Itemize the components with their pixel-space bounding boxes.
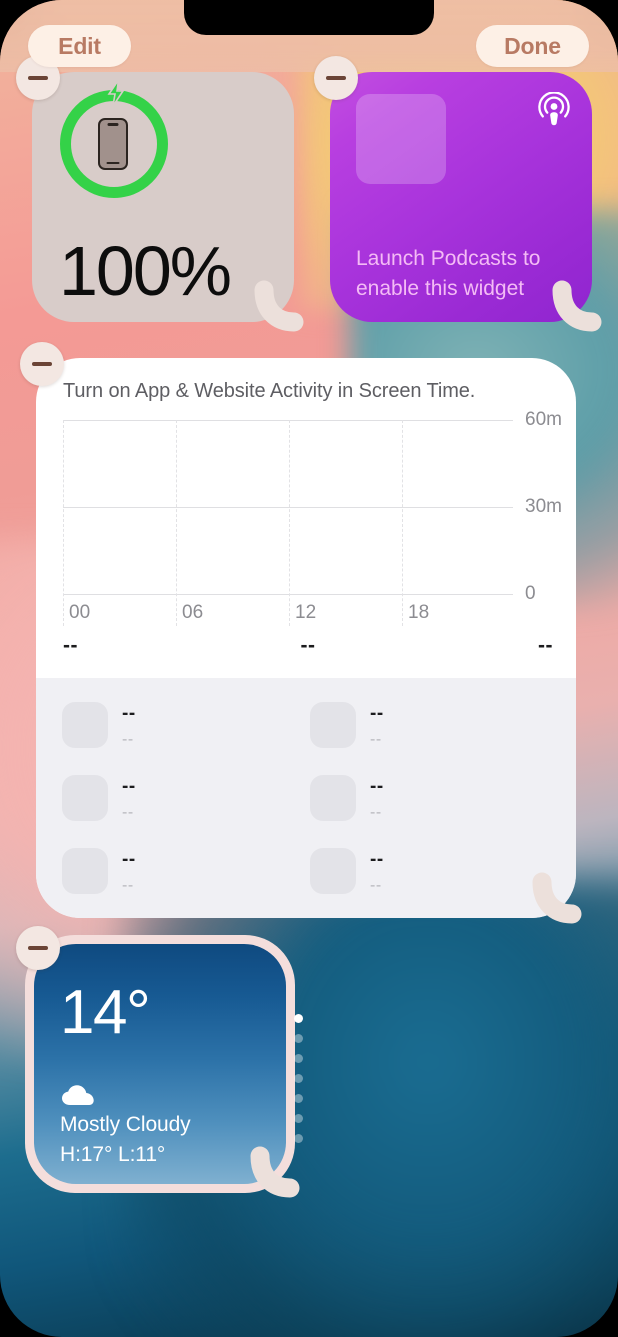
widget-screen-time[interactable]: Turn on App & Website Activity in Screen… bbox=[36, 358, 576, 918]
device-frame: 100% bbox=[0, 0, 618, 1337]
page-dot-1[interactable] bbox=[294, 1014, 303, 1023]
app-icon-placeholder bbox=[62, 775, 108, 821]
widget-batteries[interactable]: 100% bbox=[32, 72, 294, 322]
app-icon-placeholder bbox=[62, 848, 108, 894]
list-item-detail: -- bbox=[122, 804, 136, 822]
page-indicator[interactable] bbox=[294, 1014, 303, 1143]
screen-time-chart: 60m 30m 0 00 06 12 18 bbox=[63, 420, 513, 598]
minus-icon bbox=[28, 946, 48, 950]
list-item-name: -- bbox=[122, 703, 136, 725]
page-dot-7[interactable] bbox=[294, 1134, 303, 1143]
page-dot-4[interactable] bbox=[294, 1074, 303, 1083]
minus-icon bbox=[28, 76, 48, 80]
page-dot-5[interactable] bbox=[294, 1094, 303, 1103]
list-item-name: -- bbox=[122, 776, 136, 798]
weather-condition-label: Mostly Cloudy bbox=[60, 1113, 191, 1137]
gridline-30m bbox=[63, 507, 513, 508]
resize-handle-weather[interactable] bbox=[248, 1146, 300, 1198]
list-item-text: -- -- bbox=[370, 848, 384, 895]
ytick-label-30m: 30m bbox=[525, 496, 562, 518]
podcast-artwork-placeholder bbox=[356, 94, 446, 184]
weather-high-low-label: H:17° L:11° bbox=[60, 1143, 165, 1167]
xtick-label-06: 06 bbox=[176, 602, 203, 624]
app-icon-placeholder bbox=[310, 775, 356, 821]
widget-podcasts[interactable]: Launch Podcasts to enable this widget bbox=[330, 72, 592, 322]
remove-widget-button-weather[interactable] bbox=[16, 926, 60, 970]
minus-icon bbox=[326, 76, 346, 80]
podcasts-message-label: Launch Podcasts to enable this widget bbox=[356, 244, 570, 304]
chart-plot-area bbox=[63, 420, 513, 595]
list-item-detail: -- bbox=[370, 877, 384, 895]
gridline-x-00 bbox=[63, 420, 65, 626]
list-item[interactable]: -- -- bbox=[62, 775, 310, 822]
minus-icon bbox=[32, 362, 52, 366]
edit-button[interactable]: Edit bbox=[28, 25, 131, 67]
list-item-detail: -- bbox=[122, 731, 136, 749]
lightning-bolt-icon bbox=[105, 80, 127, 106]
list-item[interactable]: -- -- bbox=[310, 848, 558, 895]
list-item-text: -- -- bbox=[122, 775, 136, 822]
list-item-name: -- bbox=[122, 849, 136, 871]
list-item[interactable]: -- -- bbox=[310, 775, 558, 822]
widget-weather[interactable]: 14° Mostly Cloudy H:17° L:11° bbox=[34, 944, 286, 1184]
list-item[interactable]: -- -- bbox=[62, 848, 310, 895]
list-item-detail: -- bbox=[370, 804, 384, 822]
summary-value: -- bbox=[301, 634, 316, 658]
app-icon-placeholder bbox=[310, 702, 356, 748]
iphone-icon bbox=[98, 118, 128, 170]
list-item-text: -- -- bbox=[122, 848, 136, 895]
battery-ring-group bbox=[60, 90, 168, 198]
gridline-x-18 bbox=[402, 420, 404, 626]
remove-widget-button-screen-time[interactable] bbox=[20, 342, 64, 386]
list-item-detail: -- bbox=[122, 877, 136, 895]
resize-handle-podcasts[interactable] bbox=[550, 280, 602, 332]
gridline-0 bbox=[63, 594, 513, 595]
widget-canvas: 100% bbox=[0, 0, 618, 1337]
gridline-x-06 bbox=[176, 420, 178, 626]
list-item-text: -- -- bbox=[122, 702, 136, 749]
resize-handle-batteries[interactable] bbox=[252, 280, 304, 332]
list-item[interactable]: -- -- bbox=[62, 702, 310, 749]
resize-handle-screen-time[interactable] bbox=[530, 872, 582, 924]
list-item-detail: -- bbox=[370, 731, 384, 749]
page-dot-2[interactable] bbox=[294, 1034, 303, 1043]
summary-value: -- bbox=[63, 634, 78, 658]
done-button[interactable]: Done bbox=[476, 25, 589, 67]
ytick-label-0: 0 bbox=[525, 583, 536, 605]
screen-time-summary-row: -- -- -- bbox=[63, 634, 553, 658]
list-item[interactable]: -- -- bbox=[310, 702, 558, 749]
page-dot-3[interactable] bbox=[294, 1054, 303, 1063]
xtick-label-00: 00 bbox=[63, 602, 90, 624]
cloud-icon bbox=[61, 1084, 95, 1106]
xtick-label-12: 12 bbox=[289, 602, 316, 624]
gridline-x-12 bbox=[289, 420, 291, 626]
screen-time-app-list: -- -- -- -- bbox=[36, 678, 576, 918]
list-item-name: -- bbox=[370, 703, 384, 725]
screen-time-title: Turn on App & Website Activity in Screen… bbox=[63, 380, 475, 403]
app-icon-placeholder bbox=[310, 848, 356, 894]
list-item-name: -- bbox=[370, 849, 384, 871]
ytick-label-60m: 60m bbox=[525, 409, 562, 431]
remove-widget-button-podcasts[interactable] bbox=[314, 56, 358, 100]
list-item-text: -- -- bbox=[370, 702, 384, 749]
app-icon-placeholder bbox=[62, 702, 108, 748]
xtick-label-18: 18 bbox=[402, 602, 429, 624]
gridline-60m bbox=[63, 420, 513, 421]
weather-temperature-label: 14° bbox=[60, 982, 149, 1044]
summary-value: -- bbox=[538, 634, 553, 658]
list-item-text: -- -- bbox=[370, 775, 384, 822]
device-notch bbox=[184, 0, 434, 35]
list-item-name: -- bbox=[370, 776, 384, 798]
page-dot-6[interactable] bbox=[294, 1114, 303, 1123]
widget-screen-time-surface: Turn on App & Website Activity in Screen… bbox=[36, 358, 576, 918]
battery-percent-label: 100% bbox=[59, 236, 230, 306]
podcasts-icon bbox=[536, 92, 572, 128]
